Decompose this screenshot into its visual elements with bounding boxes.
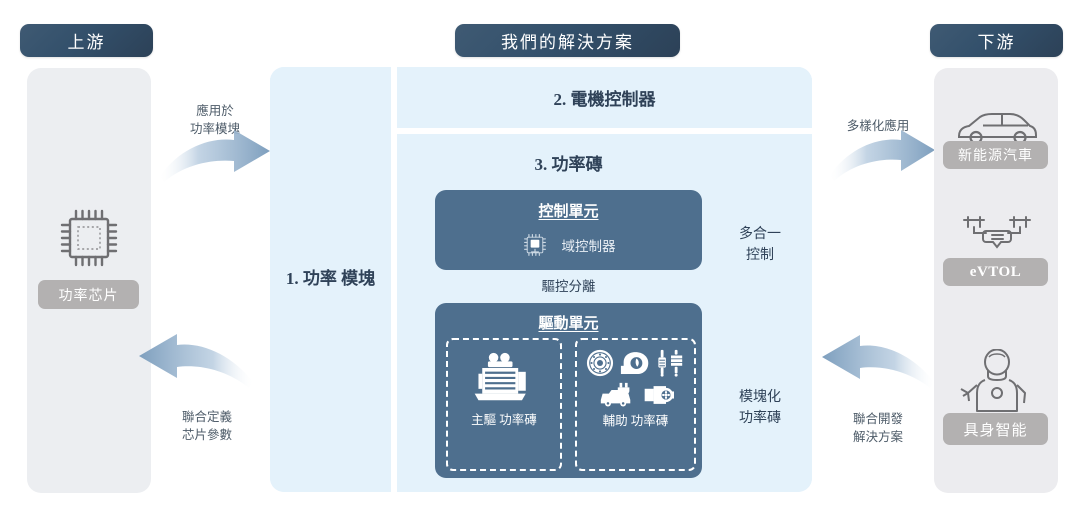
flow-label-joint-development: 聯合開發 解決方案 (828, 392, 928, 446)
shock-absorber-icon (657, 349, 685, 377)
control-unit-title: 控制單元 (435, 200, 702, 221)
downstream-chip-evtol: eVTOL (943, 258, 1048, 286)
header-pill-solution: 我們的解決方案 (455, 24, 680, 57)
upstream-node-chip: 功率芯片 (38, 280, 139, 309)
solution-motor-controller-block: 2. 電機控制器 (397, 67, 812, 128)
header-solution-label: 我們的解決方案 (501, 28, 634, 53)
chip-icon (56, 207, 122, 269)
header-pill-upstream: 上游 (20, 24, 153, 57)
flow-label-joint-define-chip-params: 聯合定義 芯片參數 (152, 390, 262, 444)
aux-icon-row-bottom (598, 382, 674, 407)
header-downstream-label: 下游 (978, 28, 1016, 53)
downstream-chip-robot-label: 具身智能 (963, 419, 1027, 440)
side-note-modular-text: 模塊化 功率磚 (739, 390, 781, 426)
main-drive-brick-box: 主驅 功率磚 (446, 338, 562, 471)
downstream-chip-nev: 新能源汽車 (943, 141, 1048, 169)
solution-power-module-column: 1. 功率 模塊 (270, 67, 391, 492)
solution-power-module-label: 1. 功率 模塊 (286, 267, 375, 292)
header-upstream-label: 上游 (68, 28, 106, 53)
upstream-node-label: 功率芯片 (59, 285, 119, 305)
drive-unit-title: 驅動單元 (435, 312, 702, 333)
downstream-chip-evtol-label: eVTOL (970, 264, 1021, 281)
main-drive-brick-label: 主驅 功率磚 (471, 412, 537, 429)
flow-label-joint-define-chip-params-text: 聯合定義 芯片參數 (182, 410, 232, 442)
side-note-multi-in-one: 多合一 控制 (714, 203, 806, 266)
side-note-modular: 模塊化 功率磚 (714, 366, 806, 429)
ev-charging-car-icon (598, 382, 634, 407)
arrow-back-solution-to-upstream (135, 330, 255, 392)
humanoid-robot-icon (955, 349, 1035, 417)
aux-drive-brick-label: 輔助 功率磚 (603, 413, 669, 430)
downstream-chip-nev-label: 新能源汽車 (958, 145, 1033, 165)
control-unit-card: 控制單元 (435, 190, 702, 270)
electric-motor-icon (469, 351, 539, 404)
aux-icon-row-top (586, 349, 685, 377)
aux-drive-brick-box: 輔助 功率磚 (575, 338, 696, 471)
arrow-forward-solution-to-downstream (828, 128, 938, 186)
downstream-chip-robot: 具身智能 (943, 413, 1048, 445)
solution-motor-controller-label: 2. 電機控制器 (554, 85, 656, 110)
solution-power-brick-label-text: 3. 功率磚 (535, 155, 603, 174)
solution-power-brick-label: 3. 功率磚 (435, 150, 702, 175)
side-note-multi-in-one-text: 多合一 控制 (739, 227, 781, 263)
domain-controller-chip-icon (522, 232, 548, 258)
arrow-back-downstream-to-solution (818, 332, 936, 392)
diagram-canvas: 上游 我們的解決方案 下游 (0, 0, 1080, 505)
drive-control-separation-label: 驅控分離 (435, 275, 702, 295)
evtol-drone-icon (958, 213, 1036, 257)
turbo-pump-icon (620, 351, 651, 377)
arrow-forward-upstream-to-solution (158, 128, 273, 188)
header-pill-downstream: 下游 (930, 24, 1063, 57)
control-unit-subtitle: 域控制器 (562, 235, 616, 255)
drive-control-separation-text: 驅控分離 (542, 279, 596, 294)
ac-compressor-icon (642, 383, 674, 407)
flow-label-joint-development-text: 聯合開發 解決方案 (853, 412, 903, 444)
brake-disc-icon (586, 349, 614, 377)
